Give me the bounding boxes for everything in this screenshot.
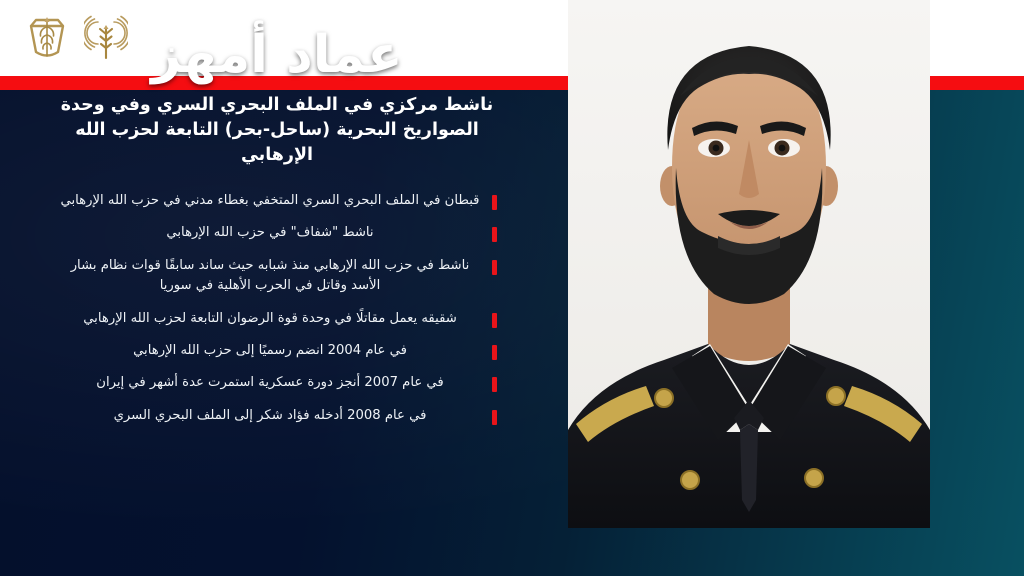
list-item: قبطان في الملف البحري السري المتخفي بغطا… [57,191,497,211]
profile-text-column: عماد أمهز ناشط مركزي في الملف البحري الس… [57,28,497,438]
bullet-marker-icon [492,377,497,392]
profile-bullet-list: قبطان في الملف البحري السري المتخفي بغطا… [57,191,497,427]
list-item: ناشط في حزب الله الإرهابي منذ شبابه حيث … [57,256,497,297]
bullet-text: في عام 2007 أنجز دورة عسكرية استمرت عدة … [57,373,483,393]
profile-subtitle: ناشط مركزي في الملف البحري السري وفي وحد… [57,93,497,169]
bullet-text: ناشط في حزب الله الإرهابي منذ شبابه حيث … [57,256,483,297]
bullet-text: قبطان في الملف البحري السري المتخفي بغطا… [57,191,483,211]
list-item: شقيقه يعمل مقاتلًا في وحدة قوة الرضوان ا… [57,309,497,329]
bullet-text: ناشط "شفاف" في حزب الله الإرهابي [57,223,483,243]
slide-root: عماد أمهز ناشط مركزي في الملف البحري الس… [0,0,1024,576]
bullet-marker-icon [492,410,497,425]
bullet-marker-icon [492,195,497,210]
bullet-marker-icon [492,345,497,360]
bullet-marker-icon [492,260,497,275]
list-item: ناشط "شفاف" في حزب الله الإرهابي [57,223,497,243]
page-title: عماد أمهز [57,28,497,83]
bullet-marker-icon [492,227,497,242]
bullet-text: شقيقه يعمل مقاتلًا في وحدة قوة الرضوان ا… [57,309,483,329]
list-item: في عام 2007 أنجز دورة عسكرية استمرت عدة … [57,373,497,393]
bullet-marker-icon [492,313,497,328]
bullet-text: في عام 2008 أدخله فؤاد شكر إلى الملف الب… [57,406,483,426]
list-item: في عام 2004 انضم رسميًا إلى حزب الله الإ… [57,341,497,361]
portrait-photo [568,0,930,528]
bullet-text: في عام 2004 انضم رسميًا إلى حزب الله الإ… [57,341,483,361]
list-item: في عام 2008 أدخله فؤاد شكر إلى الملف الب… [57,406,497,426]
